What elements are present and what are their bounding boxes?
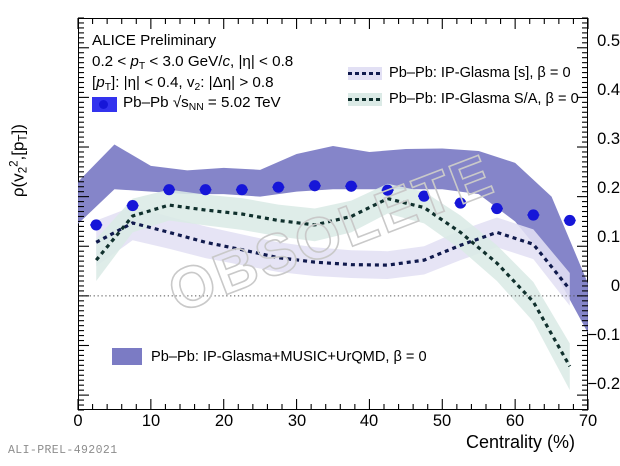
x-tick-label: 50 bbox=[412, 413, 472, 430]
sqrt-s: √s bbox=[173, 94, 189, 111]
figure-id-label: ALI-PREL-492021 bbox=[8, 444, 118, 457]
dotted-line-key-icon bbox=[348, 93, 382, 106]
legend-row-ipglasma-sa: Pb–Pb: IP-Glasma S/A, β = 0 bbox=[348, 86, 579, 112]
legend-data-label: Pb–Pb √sNN = 5.02 TeV bbox=[123, 92, 281, 116]
y-tick-label: 0.3 bbox=[574, 131, 620, 148]
sel-f: : |Δη| > 0.8 bbox=[200, 74, 273, 91]
x-tick-label: 20 bbox=[194, 413, 254, 430]
x-tick-label: 40 bbox=[339, 413, 399, 430]
info-block: ALICE Preliminary 0.2 < pT < 3.0 GeV/c, … bbox=[92, 30, 293, 115]
y-tick-label: −0.1 bbox=[574, 327, 620, 344]
kin-eta: , |η| < 0.8 bbox=[230, 53, 293, 70]
energy-value: = 5.02 TeV bbox=[204, 94, 281, 111]
x-tick-label: 30 bbox=[267, 413, 327, 430]
kin-d: < 3.0 GeV/ bbox=[145, 53, 222, 70]
sqrt-s-sub: NN bbox=[189, 102, 204, 113]
legend-label-ipglasma-s: Pb–Pb: IP-Glasma [s], β = 0 bbox=[389, 65, 571, 81]
x-tick-label: 60 bbox=[485, 413, 545, 430]
chart-root: 0.5 0.4 0.3 0.2 0.1 0 −0.1 −0.2 0 10 20 … bbox=[0, 0, 620, 466]
sel-d: ]: |η| < 0.4, v bbox=[111, 74, 194, 91]
legend-data-marker: Pb–Pb √sNN = 5.02 TeV bbox=[92, 93, 293, 115]
y-tick-label: 0.2 bbox=[574, 180, 620, 197]
legend-label-music-urqmd: Pb–Pb: IP-Glasma+MUSIC+UrQMD, β = 0 bbox=[151, 349, 427, 365]
kin-pt: p bbox=[130, 53, 138, 70]
y-tick-label: 0 bbox=[574, 278, 620, 295]
kin-a: 0.2 < bbox=[92, 53, 130, 70]
sys-label: Pb–Pb bbox=[123, 94, 173, 111]
y-tick-label: 0.5 bbox=[574, 33, 620, 50]
y-tick-label: −0.2 bbox=[574, 376, 620, 393]
ylabel-sup2: 2 bbox=[8, 160, 20, 166]
ylabel-sub2: 2 bbox=[18, 167, 30, 173]
sel-pt: p bbox=[96, 74, 104, 91]
data-marker-swatch bbox=[92, 97, 117, 112]
dotted-line-key-icon bbox=[348, 67, 382, 80]
ylabel-subT: T bbox=[18, 134, 30, 141]
curve-legend: Pb–Pb: IP-Glasma [s], β = 0 Pb–Pb: IP-Gl… bbox=[348, 60, 579, 112]
y-axis-title: ρ(v22,[pT]) bbox=[8, 46, 29, 276]
band-legend: Pb–Pb: IP-Glasma+MUSIC+UrQMD, β = 0 bbox=[112, 348, 427, 365]
ylabel-close: ]) bbox=[8, 124, 27, 134]
kin-c: c bbox=[222, 53, 230, 70]
legend-label-ipglasma-sa: Pb–Pb: IP-Glasma S/A, β = 0 bbox=[389, 91, 579, 107]
ylabel-mid: ,[p bbox=[8, 142, 27, 161]
x-tick-label: 0 bbox=[48, 413, 108, 430]
x-axis-title: Centrality (%) bbox=[466, 432, 575, 453]
x-tick-label: 70 bbox=[558, 413, 618, 430]
y-tick-label: 0.1 bbox=[574, 229, 620, 246]
info-line-alice: ALICE Preliminary bbox=[92, 30, 293, 51]
info-line-selection: [pT]: |η| < 0.4, v2: |Δη| > 0.8 bbox=[92, 72, 293, 93]
ylabel-rho: ρ(v bbox=[8, 173, 27, 197]
legend-row-ipglasma-s: Pb–Pb: IP-Glasma [s], β = 0 bbox=[348, 60, 579, 86]
band-swatch-icon bbox=[112, 348, 142, 365]
info-line-kinematics: 0.2 < pT < 3.0 GeV/c, |η| < 0.8 bbox=[92, 51, 293, 72]
y-tick-label: 0.4 bbox=[574, 82, 620, 99]
x-tick-label: 10 bbox=[121, 413, 181, 430]
